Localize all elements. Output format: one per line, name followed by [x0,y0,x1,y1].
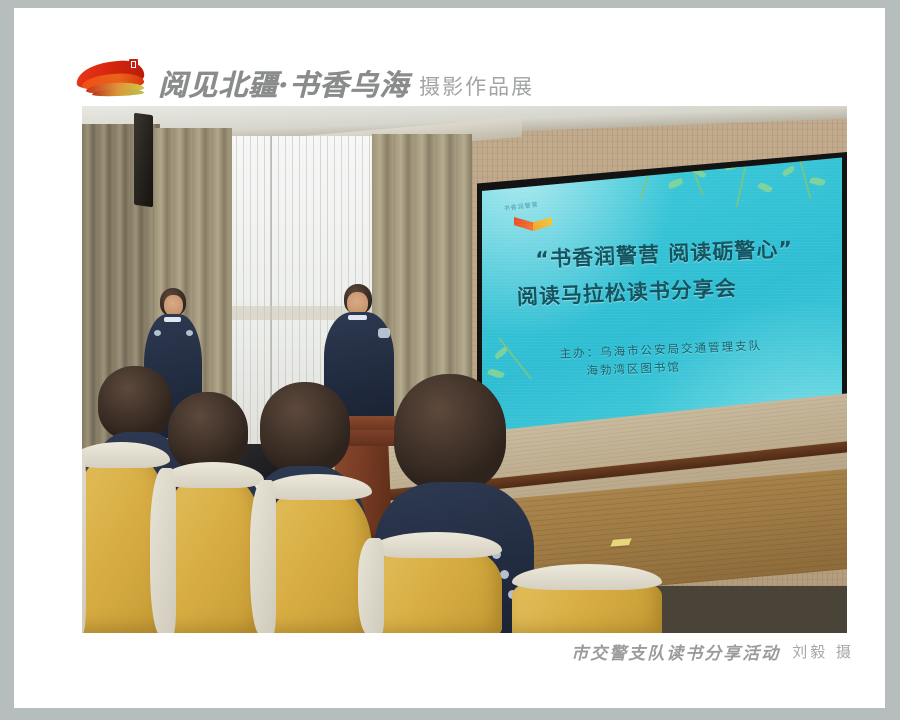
auditorium-seat [512,576,662,633]
speaker-collar [348,315,367,320]
officer-badge-icon [186,330,193,336]
seat-side-pad [250,480,276,633]
outer-frame: 阅见北疆·书香乌海 摄影作品展 [0,0,900,720]
logo-seal-icon [129,59,138,70]
seat-side-pad [358,538,384,633]
exhibition-photo: 书香润警营 “书香润警营 阅读砺警心” 阅读马拉松读书分享会 主办：乌海市公安局… [82,106,847,633]
page-subtitle: 摄影作品展 [419,77,534,100]
caption-text: 市交警支队读书分享活动 [571,639,780,664]
audience-head [168,392,248,472]
page-header: 阅见北疆·书香乌海 摄影作品展 [74,42,854,100]
photo-caption: 市交警支队读书分享活动 刘毅 摄 [514,637,854,665]
audience-head [394,374,506,492]
wall-speaker-icon [134,113,153,208]
exhibition-logo-icon [74,58,152,100]
page-title: 阅见北疆·书香乌海 [158,71,409,100]
auditorium-seat [370,544,502,633]
officer-collar [164,317,181,322]
officer-face [164,295,183,316]
exhibition-page: 阅见北疆·书香乌海 摄影作品展 [14,8,885,708]
auditorium-seat [262,486,372,633]
seat-side-pad [150,468,176,633]
speaker-shoulder-badge-icon [378,328,390,338]
audience-head [260,382,350,474]
officer-badge-icon [154,330,161,336]
auditorium-seat [162,474,264,633]
seat-side-pad [82,448,86,633]
caption-credit: 刘毅 摄 [792,641,854,662]
